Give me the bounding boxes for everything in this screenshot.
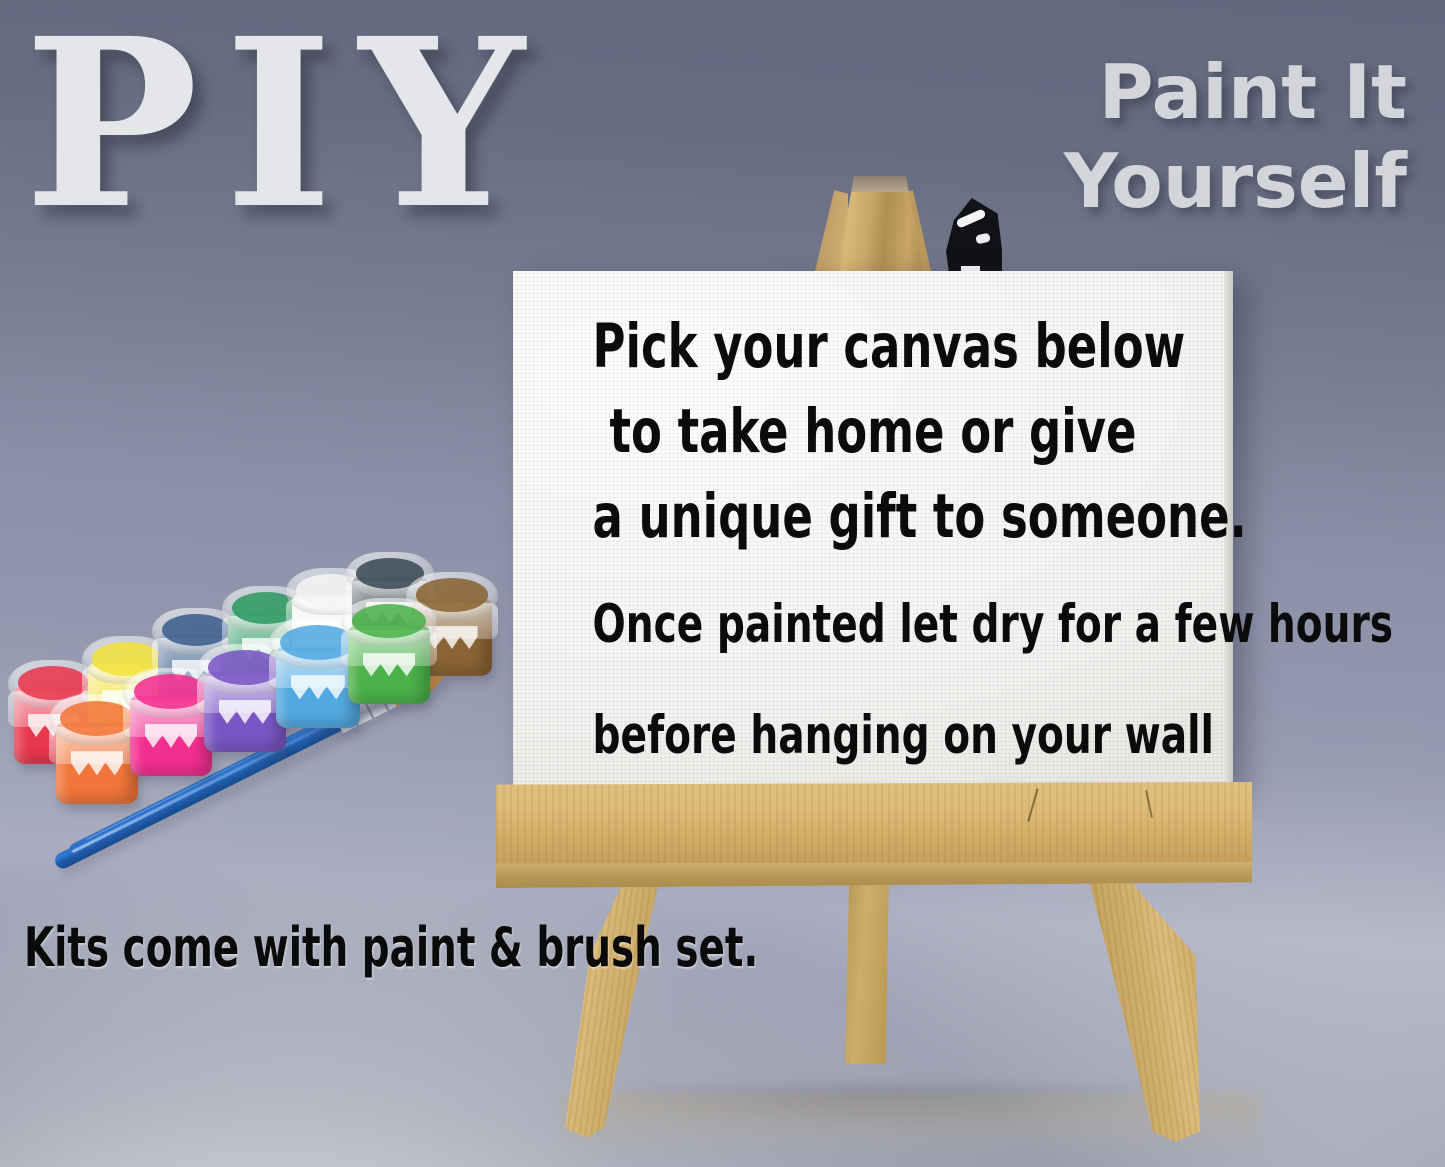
- pot-seal-tab: [145, 724, 197, 748]
- canvas-line-2: to take home or give: [593, 390, 1154, 475]
- pot-lid: [341, 598, 436, 647]
- ledge-lip: [496, 862, 1252, 888]
- kit-caption: Kits come with paint & brush set.: [24, 916, 758, 979]
- canvas-line-3: a unique gift to someone.: [593, 475, 1154, 560]
- canvas-message: Pick your canvas below to take home or g…: [513, 271, 1233, 786]
- poster-image: PIY Paint It Yourself Pick your canvas b…: [0, 0, 1445, 1167]
- canvas-board: Pick your canvas below to take home or g…: [513, 271, 1233, 786]
- pot-seal-tab: [219, 700, 271, 724]
- paint-pot-lightgreen: [348, 598, 430, 704]
- pot-seal-tab: [71, 751, 123, 775]
- pot-seal-tab: [291, 675, 345, 699]
- pot-lid-paint: [352, 604, 426, 638]
- canvas-line-1: Pick your canvas below: [593, 305, 1154, 390]
- pot-seal-tab: [363, 653, 415, 676]
- canvas-message-bottom: Once painted let dry for a few hours bef…: [531, 589, 1215, 771]
- pot-lid-paint: [162, 614, 231, 646]
- canvas-message-top: Pick your canvas below to take home or g…: [531, 305, 1215, 559]
- easel-ledge: [496, 782, 1252, 890]
- ledge-face: [496, 782, 1252, 868]
- canvas-line-5: before hanging on your wall: [593, 700, 1154, 771]
- canvas-line-4: Once painted let dry for a few hours: [593, 589, 1154, 660]
